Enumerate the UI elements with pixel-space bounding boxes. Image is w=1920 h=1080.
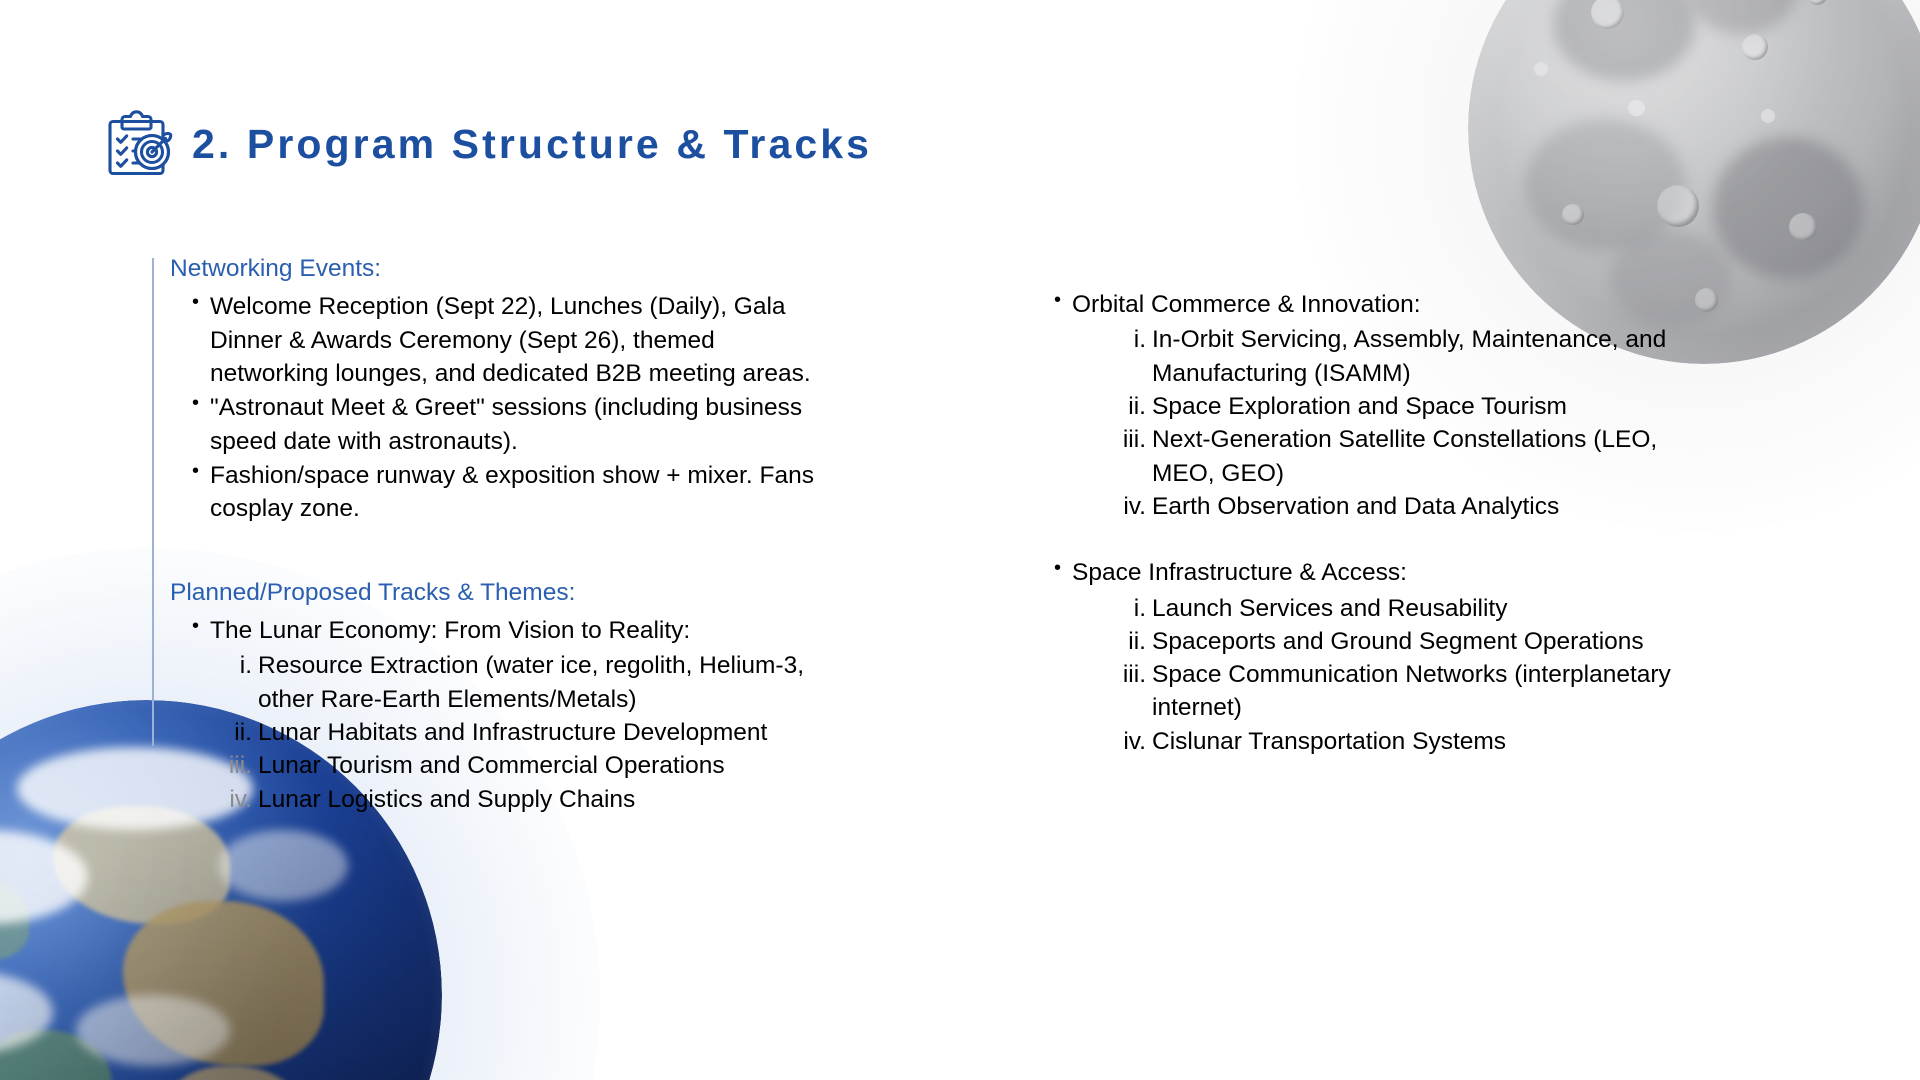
list-item: i. Launch Services and Reusability (1048, 592, 1708, 625)
section-heading-networking-events: Networking Events: (170, 254, 820, 284)
clipboard-target-icon (100, 108, 174, 180)
list-item-label: Earth Observation and Data Analytics (1152, 493, 1559, 520)
list-item: Space Infrastructure & Access: (1048, 556, 1708, 589)
list-marker: ii. (1048, 390, 1146, 423)
list-marker: iii. (170, 749, 252, 782)
list-item: i. Resource Extraction (water ice, regol… (170, 649, 820, 716)
list-item: iii. Next-Generation Satellite Constella… (1048, 423, 1708, 490)
list-item: Orbital Commerce & Innovation: (1048, 288, 1708, 321)
list-marker: iv. (1048, 490, 1146, 523)
networking-events-list: Welcome Reception (Sept 22), Lunches (Da… (170, 290, 820, 525)
list-item: iii. Space Communication Networks (inter… (1048, 658, 1708, 725)
list-item-label: Resource Extraction (water ice, regolith… (258, 652, 804, 712)
track-group-orbital-commerce: Orbital Commerce & Innovation: i. In-Orb… (1048, 288, 1708, 523)
list-item-label: Space Exploration and Space Tourism (1152, 393, 1567, 420)
list-marker: ii. (1048, 625, 1146, 658)
space-infrastructure-sublist: i. Launch Services and Reusability ii. S… (1048, 592, 1708, 759)
list-item-label: Next-Generation Satellite Constellations… (1152, 426, 1657, 486)
list-item: The Lunar Economy: From Vision to Realit… (170, 614, 820, 647)
list-item: ii. Lunar Habitats and Infrastructure De… (170, 716, 820, 749)
list-marker: i. (170, 649, 252, 682)
right-column: Orbital Commerce & Innovation: i. In-Orb… (1048, 288, 1708, 758)
list-item: ii. Spaceports and Ground Segment Operat… (1048, 625, 1708, 658)
page-title: 2. Program Structure & Tracks (192, 124, 872, 165)
list-item: iv. Lunar Logistics and Supply Chains (170, 783, 820, 816)
list-item-label: Cislunar Transportation Systems (1152, 728, 1506, 755)
lunar-economy-sublist: i. Resource Extraction (water ice, regol… (170, 649, 820, 816)
list-item-label: Lunar Logistics and Supply Chains (258, 786, 635, 813)
presentation-slide: 2. Program Structure & Tracks Networking… (0, 0, 1920, 1080)
list-marker: iii. (1048, 658, 1146, 691)
section-heading-planned-tracks: Planned/Proposed Tracks & Themes: (170, 578, 820, 608)
planned-tracks-list: The Lunar Economy: From Vision to Realit… (170, 614, 820, 647)
left-column: Networking Events: Welcome Reception (Se… (170, 254, 820, 816)
list-marker: i. (1048, 323, 1146, 356)
orbital-commerce-sublist: i. In-Orbit Servicing, Assembly, Mainten… (1048, 323, 1708, 523)
track-group-space-infrastructure: Space Infrastructure & Access: i. Launch… (1048, 556, 1708, 758)
list-item-label: Launch Services and Reusability (1152, 595, 1507, 622)
list-item: Fashion/space runway & exposition show +… (170, 459, 820, 526)
list-marker: iv. (1048, 725, 1146, 758)
list-item: iv. Earth Observation and Data Analytics (1048, 490, 1708, 523)
list-item: "Astronaut Meet & Greet" sessions (inclu… (170, 391, 820, 458)
slide-header: 2. Program Structure & Tracks (100, 108, 872, 180)
list-marker: i. (1048, 592, 1146, 625)
list-marker: iii. (1048, 423, 1146, 456)
list-marker: iv. (170, 783, 252, 816)
list-item-label: Spaceports and Ground Segment Operations (1152, 628, 1644, 655)
list-marker: ii. (170, 716, 252, 749)
list-item: i. In-Orbit Servicing, Assembly, Mainten… (1048, 323, 1708, 390)
list-item: Welcome Reception (Sept 22), Lunches (Da… (170, 290, 820, 390)
list-item-label: In-Orbit Servicing, Assembly, Maintenanc… (1152, 326, 1666, 386)
list-item: iv. Cislunar Transportation Systems (1048, 725, 1708, 758)
list-item-label: Lunar Tourism and Commercial Operations (258, 752, 725, 779)
left-accent-rule (152, 258, 154, 746)
orbital-commerce-bullet: Orbital Commerce & Innovation: (1048, 288, 1708, 321)
space-infrastructure-bullet: Space Infrastructure & Access: (1048, 556, 1708, 589)
list-item: ii. Space Exploration and Space Tourism (1048, 390, 1708, 423)
list-item: iii. Lunar Tourism and Commercial Operat… (170, 749, 820, 782)
list-item-label: Space Communication Networks (interplane… (1152, 661, 1671, 721)
list-item-label: Lunar Habitats and Infrastructure Develo… (258, 719, 767, 746)
